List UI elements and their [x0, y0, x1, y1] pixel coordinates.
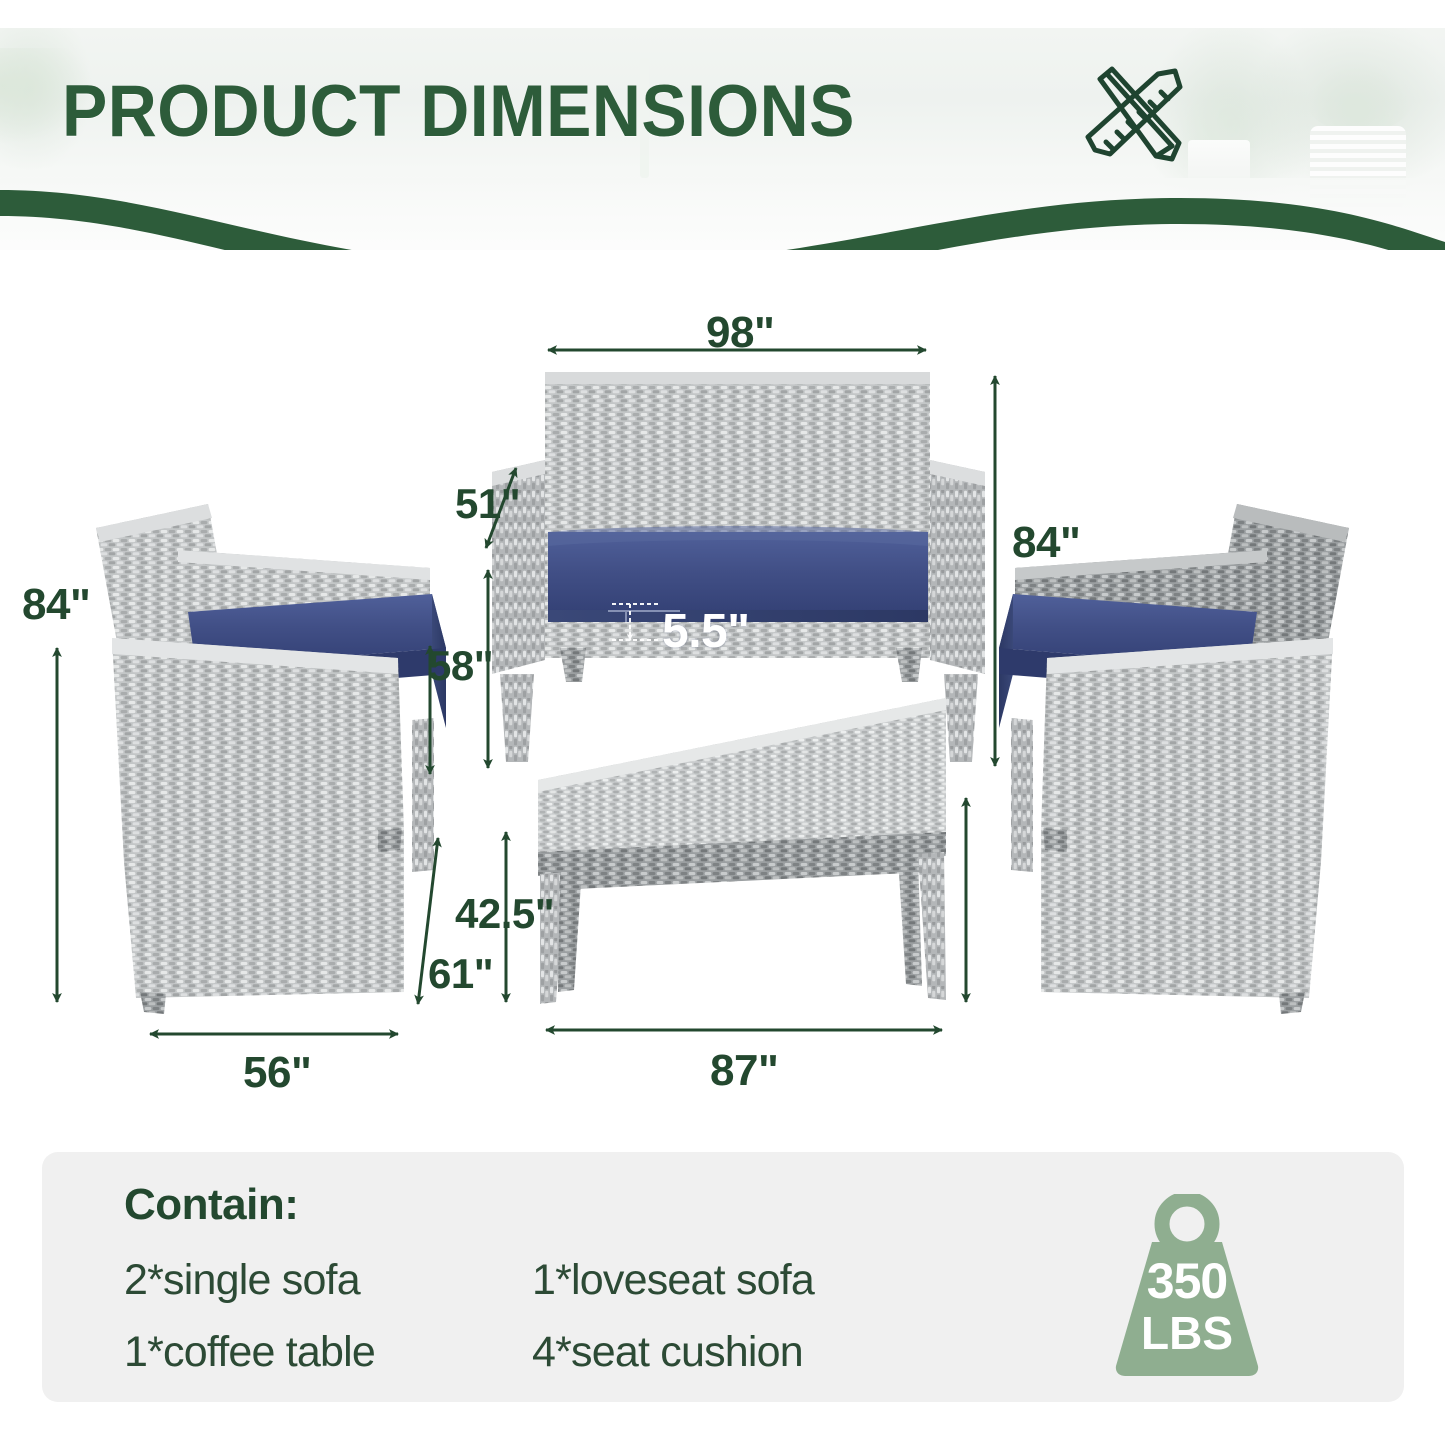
contain-list-item: 1*coffee table	[124, 1328, 375, 1377]
header-banner: PRODUCT DIMENSIONS	[0, 0, 1445, 250]
contain-list-item: 1*loveseat sofa	[532, 1256, 814, 1305]
diagram-illustration	[0, 250, 1445, 1140]
dimension-label-loveseat-back-height: 51"	[455, 480, 520, 528]
contain-list-item: 4*seat cushion	[532, 1328, 803, 1377]
weight-unit: LBS	[1082, 1306, 1292, 1360]
furniture-dimension-diagram: 98" 51" 84" 58" 5.5" 84" 56" 58" 61" 42.…	[0, 250, 1445, 1140]
single-sofa-left-illustration	[96, 504, 446, 1014]
contain-list-item: 2*single sofa	[124, 1256, 360, 1305]
dimension-label-loveseat-height: 84"	[1012, 518, 1080, 568]
coffee-table-illustration	[538, 698, 946, 1004]
dimension-label-cushion-thickness: 5.5"	[662, 604, 749, 659]
loveseat-sofa-illustration	[492, 372, 985, 762]
dimension-label-table-height: 42.5"	[455, 890, 554, 938]
ruler-pencil-icon	[1076, 58, 1194, 170]
dimension-label-chair-width: 56"	[243, 1048, 311, 1098]
weight-value: 350	[1082, 1252, 1292, 1310]
single-sofa-right-illustration	[999, 504, 1349, 1014]
dimension-label-loveseat-width: 98"	[706, 308, 774, 358]
contain-title: Contain:	[124, 1180, 298, 1230]
dimension-label-table-width: 87"	[710, 1046, 778, 1096]
floor-tile-decoration	[0, 178, 1445, 250]
product-dimensions-infographic: PRODUCT DIMENSIONS	[0, 0, 1445, 1445]
page-title: PRODUCT DIMENSIONS	[62, 70, 855, 153]
dimension-label-chair-height: 84"	[22, 580, 90, 630]
contain-panel: Contain: 2*single sofa 1*loveseat sofa 1…	[42, 1152, 1404, 1402]
weight-badge: 350 LBS	[1082, 1194, 1292, 1384]
plant-decoration-2	[1305, 63, 1413, 133]
